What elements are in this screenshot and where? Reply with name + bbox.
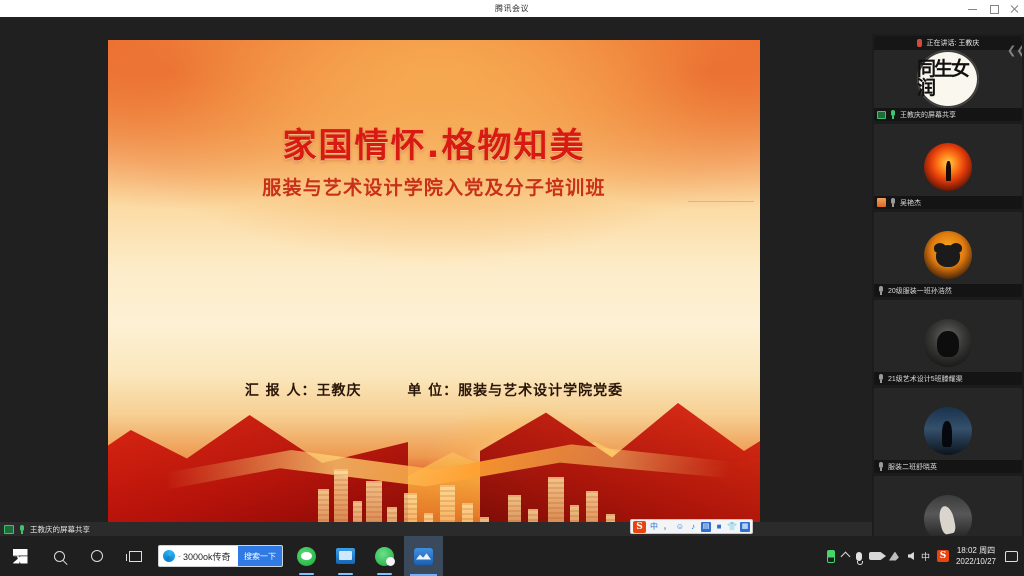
- clock-time: 18:02 周四: [956, 545, 996, 556]
- tile-footer: 20级服装一班孙浩然: [874, 284, 1022, 297]
- tencent-meeting-icon: [414, 548, 433, 565]
- screen-share-icon: [877, 111, 886, 119]
- ime-indicator-icon[interactable]: 中: [921, 550, 930, 563]
- pinned-apps: [287, 536, 443, 576]
- screen-share-icon: [4, 525, 14, 534]
- voice-input-icon[interactable]: ♪: [688, 522, 698, 532]
- magnifier-glyph: [54, 551, 65, 562]
- action-center-icon[interactable]: [1005, 551, 1018, 562]
- show-hidden-icons-icon[interactable]: [840, 551, 850, 561]
- toolbox-icon[interactable]: ▦: [740, 522, 750, 532]
- cortana-icon[interactable]: [78, 536, 116, 576]
- edge-search-box[interactable]: - 3000ok传奇 搜索一下: [158, 545, 283, 567]
- taskbar-app-wechat[interactable]: [287, 536, 326, 576]
- windows-logo-icon: [13, 549, 28, 564]
- search-icon[interactable]: [40, 536, 78, 576]
- avatar: [924, 407, 972, 455]
- microphone-icon[interactable]: [856, 552, 862, 561]
- participant-tile[interactable]: 服装二班舒晓英: [874, 388, 1022, 473]
- tile-footer: 吴艳杰: [874, 196, 1022, 209]
- microphone-muted-icon: [877, 374, 885, 383]
- input-mode-icon[interactable]: ■: [714, 522, 724, 532]
- microphone-muted-icon: [877, 462, 885, 471]
- avatar: [924, 319, 972, 367]
- collapse-rail-icon[interactable]: ❮❮: [1007, 45, 1020, 58]
- camera-icon[interactable]: [869, 552, 882, 560]
- microphone-icon: [18, 525, 26, 534]
- participant-name: 王教庆的屏幕共享: [900, 110, 956, 120]
- minimize-icon[interactable]: [967, 3, 978, 14]
- network-icon[interactable]: [889, 552, 901, 561]
- sogou-tray-icon[interactable]: S: [937, 550, 949, 562]
- window-title: 腾讯会议: [0, 3, 1024, 14]
- participant-name: 21级艺术设计5班滕耀渠: [888, 374, 963, 384]
- battery-icon[interactable]: [827, 550, 835, 563]
- microphone-muted-icon: [877, 286, 885, 295]
- participant-tile[interactable]: 吴艳杰: [874, 124, 1022, 209]
- edge-separator: -: [178, 551, 181, 561]
- avatar: 同生女润: [917, 50, 979, 108]
- cortana-glyph: [91, 550, 103, 562]
- tile-footer: 王教庆的屏幕共享: [874, 108, 1022, 121]
- search-input[interactable]: 3000ok传奇: [183, 550, 238, 563]
- wechat-icon: [297, 547, 316, 566]
- avatar: [924, 231, 972, 279]
- taskbar-app-file-explorer[interactable]: [326, 536, 365, 576]
- sogou-logo-icon[interactable]: S: [633, 521, 646, 533]
- tile-footer: 服装二班舒晓英: [874, 460, 1022, 473]
- participant-name: 服装二班舒晓英: [888, 462, 937, 472]
- speaking-mic-icon: [917, 39, 922, 47]
- participant-tile[interactable]: 21级艺术设计5班滕耀渠: [874, 300, 1022, 385]
- avatar: [924, 143, 972, 191]
- window-title-bar[interactable]: 腾讯会议: [0, 0, 1024, 17]
- windows-taskbar[interactable]: - 3000ok传奇 搜索一下 中 S 18:02 周四 2022/10/27: [0, 536, 1024, 576]
- microphone-muted-icon: [889, 198, 897, 207]
- system-tray[interactable]: 中 S 18:02 周四 2022/10/27: [827, 545, 1024, 567]
- emoji-panel-icon[interactable]: ☺: [675, 522, 685, 532]
- soft-keyboard-icon[interactable]: ▤: [701, 522, 711, 532]
- ime-floating-toolbar[interactable]: S 中 ， ☺ ♪ ▤ ■ 👕 ▦: [630, 519, 753, 534]
- microphone-icon: [889, 110, 897, 119]
- tile-footer: 21级艺术设计5班滕耀渠: [874, 372, 1022, 385]
- chinese-english-toggle-icon[interactable]: 中: [649, 522, 659, 532]
- taskbar-app-tencent-meeting[interactable]: [404, 536, 443, 576]
- shared-screen-ppt[interactable]: 家国情怀.格物知美 服装与艺术设计学院入党及分子培训班 汇 报 人：王教庆 单 …: [108, 40, 760, 547]
- qq-icon: [375, 547, 394, 566]
- participant-name: 吴艳杰: [900, 198, 921, 208]
- slide-title: 家国情怀.格物知美: [108, 118, 760, 167]
- speaking-label: 正在讲话: 王教庆: [927, 38, 980, 48]
- search-go-button[interactable]: 搜索一下: [238, 546, 282, 566]
- maximize-icon[interactable]: [988, 3, 999, 14]
- participant-tile[interactable]: 20级服装一班孙浩然: [874, 212, 1022, 297]
- start-button[interactable]: [0, 536, 40, 576]
- clock-date: 2022/10/27: [956, 556, 996, 567]
- slide-subtitle: 服装与艺术设计学院入党及分子培训班: [108, 173, 760, 200]
- speaking-banner: 正在讲话: 王教庆: [874, 36, 1022, 50]
- share-status-label: 王教庆的屏幕共享: [30, 524, 90, 535]
- skin-toolbox-icon[interactable]: 👕: [727, 522, 737, 532]
- meeting-stage: 家国情怀.格物知美 服装与艺术设计学院入党及分子培训班 汇 报 人：王教庆 单 …: [0, 17, 1024, 536]
- edge-icon: [163, 550, 175, 562]
- task-view-glyph: [129, 551, 142, 562]
- task-view-icon[interactable]: [116, 536, 154, 576]
- participant-name: 20级服装一班孙浩然: [888, 286, 952, 296]
- participant-tile[interactable]: 同生女润 正在讲话: 王教庆 ❮❮ 王教庆的屏幕共享: [874, 36, 1022, 121]
- participant-rail[interactable]: 同生女润 正在讲话: 王教庆 ❮❮ 王教庆的屏幕共享 吴艳杰: [872, 34, 1024, 553]
- host-badge-icon: [877, 198, 886, 207]
- file-explorer-icon: [336, 548, 355, 564]
- taskbar-app-qq[interactable]: [365, 536, 404, 576]
- clock[interactable]: 18:02 周四 2022/10/27: [956, 545, 996, 567]
- punctuation-toggle-icon[interactable]: ，: [662, 522, 672, 532]
- window-controls: [967, 0, 1020, 17]
- close-icon[interactable]: [1009, 3, 1020, 14]
- slide-decorative-rule: [688, 201, 754, 202]
- volume-icon[interactable]: [908, 552, 914, 560]
